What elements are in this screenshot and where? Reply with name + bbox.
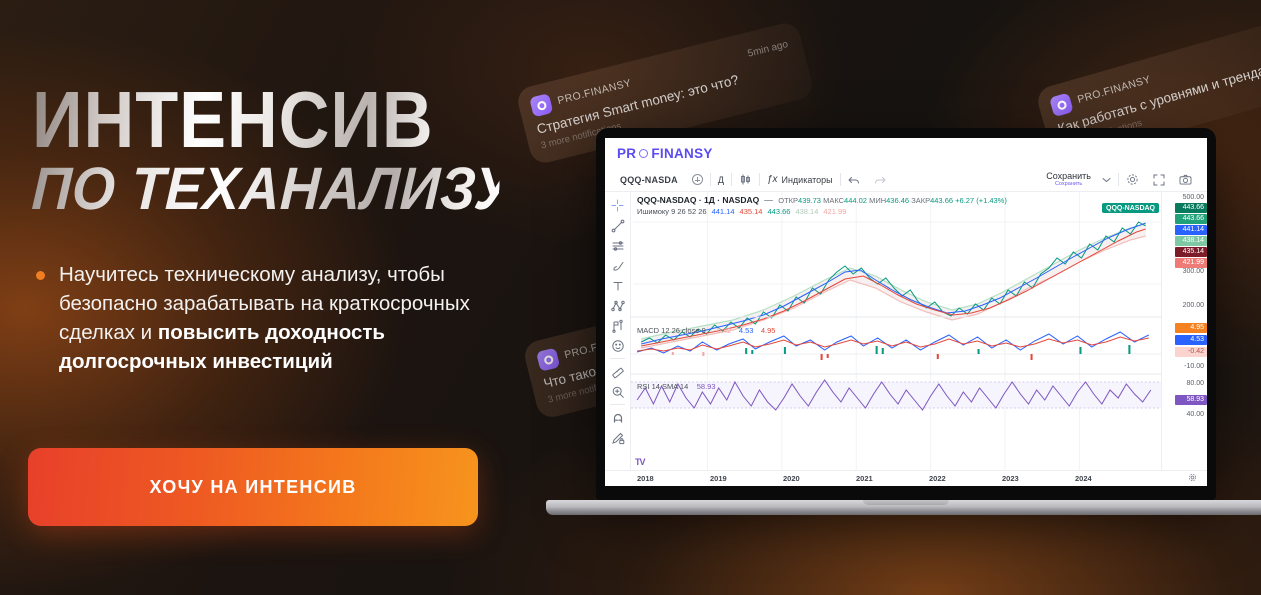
chart-plot[interactable]: QQQ-NASDAQ · 1Д · NASDAQ ОТКР439.73 МАКС… (631, 192, 1161, 470)
measure-tool[interactable] (608, 362, 628, 381)
chart-area: QQQ-NASDAQ · 1Д · NASDAQ ОТКР439.73 МАКС… (605, 192, 1207, 470)
brand-post: FINANSY (651, 146, 712, 161)
app-logo-icon (536, 347, 560, 371)
undo-icon (848, 175, 860, 185)
symbol-tag: QQQ-NASDAQ (1102, 203, 1159, 213)
add-symbol-button[interactable] (685, 171, 710, 189)
app-header: PR FINANSY (605, 138, 1207, 168)
zoom-tool[interactable] (608, 382, 628, 401)
time-tick-2023: 2023 (1002, 474, 1019, 483)
camera-icon (1179, 174, 1192, 185)
fx-icon: ƒx (767, 174, 778, 185)
brush-icon (611, 259, 625, 273)
laptop-mockup: PR FINANSY QQQ-NASDA Д (596, 128, 1216, 500)
high-label: МАКС (823, 196, 844, 205)
crosshair-icon (611, 199, 624, 212)
gear-icon (1126, 173, 1139, 186)
ruler-icon (611, 365, 625, 379)
chart-legend-ichimoku: Ишимоку 9 26 52 26 441.14 435.14 443.66 … (637, 207, 846, 216)
macd-badge-macd: 4.53 (1175, 335, 1207, 345)
high-value: 444.02 (844, 196, 867, 205)
ichimoku-value-senkou-a: 438.14 (795, 207, 818, 216)
bullet-dot-icon (36, 271, 45, 280)
time-axis-settings-button[interactable] (1188, 473, 1197, 484)
brand-pre: PR (617, 146, 636, 161)
drawing-toolbar (605, 192, 631, 470)
indicators-label: Индикаторы (781, 175, 832, 185)
tradingview-logo: TV (635, 457, 645, 467)
brush-tool[interactable] (608, 256, 628, 275)
xabcd-pattern-icon (611, 299, 625, 313)
magnet-icon (611, 411, 625, 425)
interval-selector[interactable]: Д (711, 171, 731, 189)
magnet-tool[interactable] (608, 408, 628, 427)
chart-legend-rsi: RSI 14 SMA 14 58.93 (637, 376, 716, 394)
time-tick-2019: 2019 (710, 474, 727, 483)
fullscreen-button[interactable] (1146, 171, 1172, 189)
axis-tick-200: 200.00 (1183, 302, 1204, 309)
time-tick-2024: 2024 (1075, 474, 1092, 483)
price-axis[interactable]: 500.00 443.66 443.66 441.14 438.14 435.1… (1161, 192, 1207, 470)
time-tick-2022: 2022 (929, 474, 946, 483)
price-badge-senkou-b: 421.99 (1175, 258, 1207, 268)
chevron-down-icon (1102, 177, 1111, 183)
symbol-selector[interactable]: QQQ-NASDA (613, 171, 685, 189)
lock-drawings-tool[interactable] (608, 428, 628, 447)
cta-button[interactable]: ХОЧУ НА ИНТЕНСИВ (28, 448, 478, 526)
rsi-badge: 58.93 (1175, 395, 1207, 405)
chart-type-button[interactable] (732, 171, 759, 189)
legend-title: QQQ-NASDAQ · 1Д · NASDAQ (637, 195, 759, 205)
promo-banner: ИНТЕНСИВ ПО ТЕХАНАЛИЗУ Научитесь техниче… (0, 0, 1261, 595)
smiley-icon (611, 339, 625, 353)
macd-label: MACD 12 26 close 9 (637, 326, 706, 335)
hero-bullet-text: Научитесь техническому анализу, чтобы бе… (59, 260, 492, 376)
chart-toolbar: QQQ-NASDA Д (605, 168, 1207, 192)
axis-tick-300: 300.00 (1183, 268, 1204, 275)
rsi-value: 58.93 (697, 382, 716, 391)
hero-bullet: Научитесь техническому анализу, чтобы бе… (32, 260, 540, 376)
macd-axis-tick: -10.00 (1184, 363, 1204, 370)
save-sub-label: Сохранить (1055, 182, 1082, 188)
price-badge-tenkan: 441.14 (1175, 225, 1207, 235)
trend-line-tool[interactable] (608, 216, 628, 235)
close-value: 443.66 (930, 196, 953, 205)
macd-histogram (672, 345, 1131, 360)
time-axis[interactable]: 2018 2019 2020 2021 2022 2023 2024 (605, 470, 1207, 486)
app-brand-logo: PR FINANSY (617, 146, 713, 161)
zoom-in-icon (611, 385, 625, 399)
page-title-line1: ИНТЕНСИВ (32, 86, 479, 155)
price-badge-last: 443.66 (1175, 203, 1207, 213)
macd-value-macd: 4.53 (739, 326, 754, 335)
candles-icon (739, 173, 752, 186)
visibility-toggle-icon[interactable] (764, 196, 773, 205)
gear-icon (1188, 473, 1197, 482)
toolbar-divider (610, 404, 625, 405)
price-badge-senkou-a: 438.14 (1175, 236, 1207, 246)
macd-badge-hist: -0.42 (1175, 347, 1207, 357)
open-label: ОТКР (778, 196, 798, 205)
change-value: +6.27 (+1.43%) (955, 196, 1007, 205)
macd-value-hist: -0.42 (714, 326, 731, 335)
legend-ohlc: ОТКР439.73 МАКС444.02 МИН436.46 ЗАКР443.… (778, 196, 1007, 205)
app-logo-icon (1049, 92, 1074, 117)
chart-legend-macd: MACD 12 26 close 9 -0.42 4.53 4.95 (637, 320, 775, 338)
time-tick-2018: 2018 (637, 474, 654, 483)
ichimoku-value-kijun: 435.14 (740, 207, 763, 216)
price-badge-chikou: 443.66 (1175, 214, 1207, 224)
close-label: ЗАКР (911, 196, 930, 205)
settings-button[interactable] (1119, 171, 1146, 189)
app-logo-icon (529, 93, 553, 117)
axis-tick-500: 500.00 (1183, 194, 1204, 201)
app-screen: PR FINANSY QQQ-NASDA Д (605, 138, 1207, 486)
rsi-axis-tick-80: 80.00 (1186, 380, 1204, 387)
pencil-lock-icon (611, 431, 625, 445)
save-label: Сохранить (1046, 172, 1091, 181)
horizontal-lines-tool[interactable] (608, 236, 628, 255)
rsi-axis-tick-40: 40.00 (1186, 411, 1204, 418)
page-title-line2: ПО ТЕХАНАЛИЗУ (31, 161, 501, 216)
rsi-label: RSI 14 SMA 14 (637, 382, 688, 391)
undo-button[interactable] (841, 171, 867, 189)
laptop-base (546, 500, 1261, 515)
redo-button[interactable] (867, 171, 893, 189)
ichimoku-label: Ишимоку 9 26 52 26 (637, 207, 707, 216)
macd-value-signal: 4.95 (761, 326, 776, 335)
brand-ring-icon (639, 149, 648, 158)
text-tool[interactable] (608, 276, 628, 295)
fullscreen-icon (1153, 174, 1165, 186)
crosshair-tool[interactable] (608, 196, 628, 215)
plus-circle-icon (692, 174, 703, 185)
laptop-notch (863, 500, 949, 505)
trend-line-icon (611, 219, 625, 233)
open-value: 439.73 (798, 196, 821, 205)
ichimoku-value-senkou-b: 421.99 (823, 207, 846, 216)
low-label: МИН (869, 196, 886, 205)
toolbar-right-group: Сохранить Сохранить (1042, 171, 1199, 189)
laptop-lid: PR FINANSY QQQ-NASDA Д (596, 128, 1216, 500)
flag-measure-icon (611, 319, 625, 333)
time-tick-2021: 2021 (856, 474, 873, 483)
ichimoku-value-chikou: 443.66 (767, 207, 790, 216)
price-badge-kijun: 435.14 (1175, 247, 1207, 257)
indicators-button[interactable]: ƒx Индикаторы (760, 171, 840, 189)
notification-time: 5min ago (733, 39, 789, 63)
time-tick-2020: 2020 (783, 474, 800, 483)
save-dropdown-button[interactable] (1095, 171, 1118, 189)
redo-icon (874, 175, 886, 185)
macd-badge-signal: 4.95 (1175, 323, 1207, 333)
text-icon (611, 279, 625, 293)
low-value: 436.46 (886, 196, 909, 205)
toolbar-divider (610, 358, 625, 359)
patterns-tool[interactable] (608, 296, 628, 315)
save-button[interactable]: Сохранить Сохранить (1042, 172, 1095, 188)
screenshot-button[interactable] (1172, 171, 1199, 189)
chart-legend-main: QQQ-NASDAQ · 1Д · NASDAQ ОТКР439.73 МАКС… (637, 195, 1007, 205)
forecast-tool[interactable] (608, 316, 628, 335)
parallel-lines-icon (611, 239, 625, 253)
emoji-tool[interactable] (608, 336, 628, 355)
ichimoku-value-tenkan: 441.14 (712, 207, 735, 216)
